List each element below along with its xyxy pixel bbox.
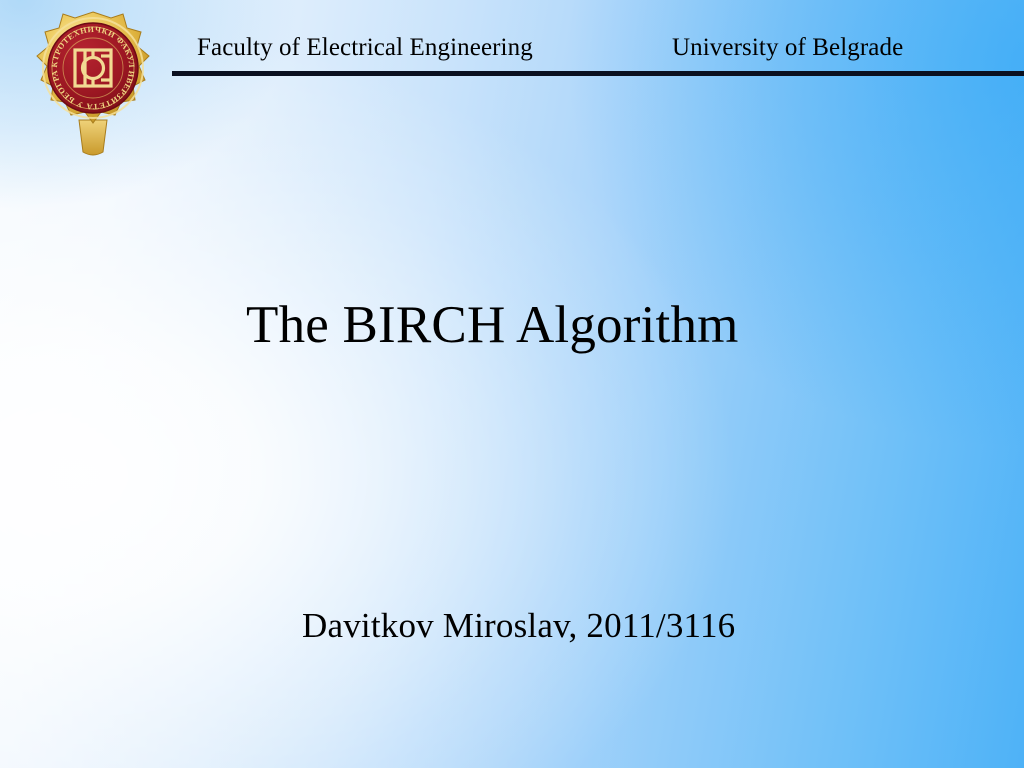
slide-header: • ЕЛЕКТРОТЕХНИЧКИ ФАКУЛТЕТ • УНИВЕРЗИТЕТ…: [0, 0, 1024, 110]
header-university-label: University of Belgrade: [672, 34, 903, 62]
university-seal-icon: • ЕЛЕКТРОТЕХНИЧКИ ФАКУЛТЕТ • УНИВЕРЗИТЕТ…: [27, 8, 159, 160]
header-divider-rule: [172, 71, 1024, 76]
slide-title: The BIRCH Algorithm: [246, 296, 739, 354]
header-text-row: Faculty of Electrical Engineering Univer…: [172, 34, 1024, 72]
slide-author-subtitle: Davitkov Miroslav, 2011/3116: [302, 605, 735, 647]
presentation-slide: • ЕЛЕКТРОТЕХНИЧКИ ФАКУЛТЕТ • УНИВЕРЗИТЕТ…: [0, 0, 1024, 768]
header-faculty-label: Faculty of Electrical Engineering: [197, 34, 533, 62]
